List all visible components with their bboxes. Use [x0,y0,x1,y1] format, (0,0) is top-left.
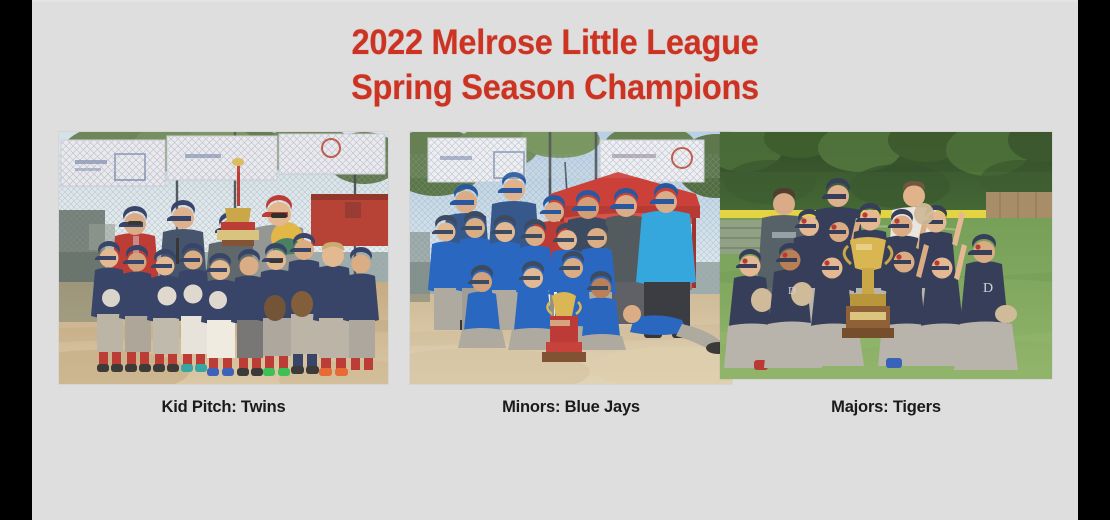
majors-tigers-team-photo[interactable]: D D [720,132,1052,379]
slide-canvas: 2022 Melrose Little League Spring Season… [32,0,1078,520]
majors-tigers-photo-art: D D [720,132,1052,379]
caption-row: Kid Pitch: Twins Minors: Blue Jays Major… [32,398,1078,422]
caption-minors: Minors: Blue Jays [410,398,732,417]
slide-letterbox-stage: 2022 Melrose Little League Spring Season… [0,0,1110,520]
photo-row: D D [32,132,1078,384]
minors-blue-jays-team-photo[interactable] [410,132,732,384]
slide-top-hairline [32,0,1078,2]
minors-blue-jays-photo-art [410,132,732,384]
kid-pitch-twins-photo-art [59,132,388,384]
caption-majors: Majors: Tigers [720,398,1052,417]
caption-kid-pitch: Kid Pitch: Twins [59,398,388,417]
page-title: 2022 Melrose Little League Spring Season… [69,20,1042,110]
kid-pitch-twins-team-photo[interactable] [59,132,388,384]
